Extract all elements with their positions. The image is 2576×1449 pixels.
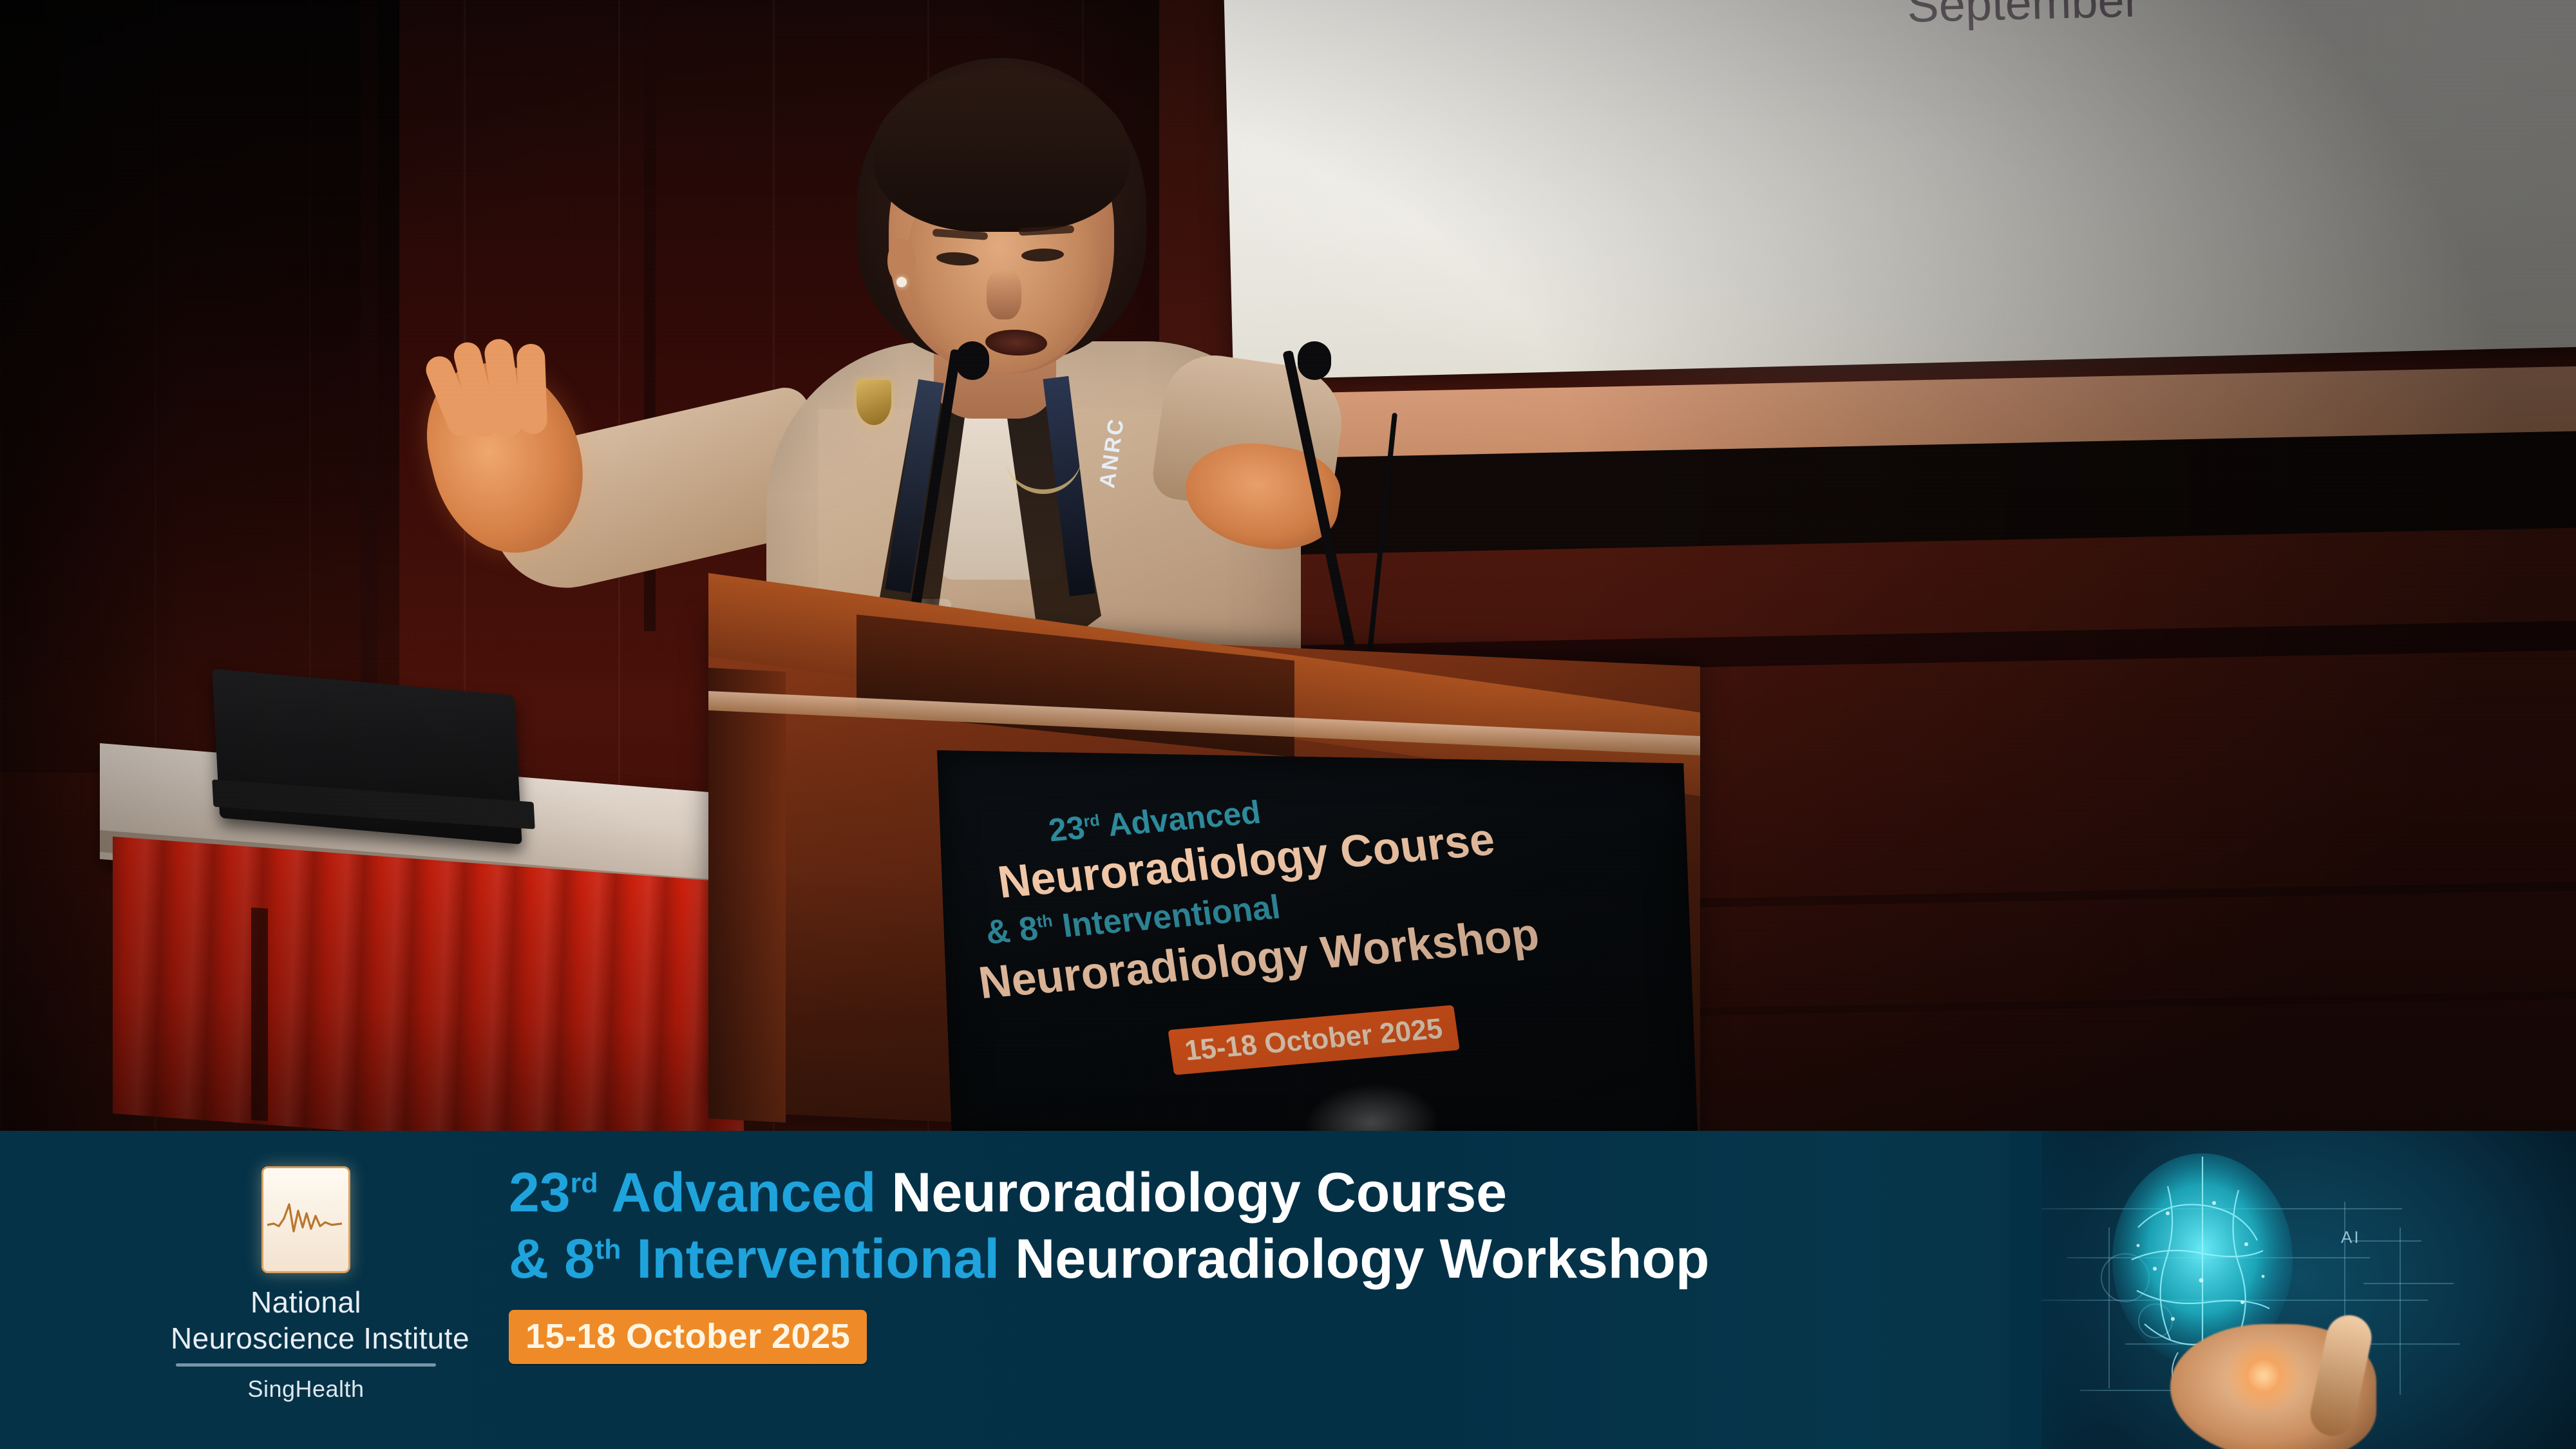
earring	[896, 277, 907, 287]
finger	[516, 343, 548, 434]
red-table-skirt	[113, 837, 744, 1131]
banner-title-line2: & 8th Interventional Neuroradiology Work…	[509, 1229, 1709, 1289]
table-skirt-fold	[251, 907, 268, 1121]
nni-logo: National Neuroscience Institute SingHeal…	[171, 1166, 441, 1403]
lectern-side-panel	[708, 668, 786, 1122]
lectern-sign-content: 23rd Advanced Neuroradiology Course & 8t…	[937, 750, 1698, 1131]
banner-ordinal-23: 23	[509, 1162, 571, 1224]
nose	[987, 269, 1021, 319]
banner-ordinal-suffix-th: th	[595, 1234, 621, 1265]
ai-overlay-label: AI	[2341, 1227, 2361, 1247]
sign-date-badge: 15-18 October 2025	[1168, 1005, 1459, 1075]
eeg-waveform-icon	[261, 1166, 350, 1273]
lapel-brooch	[857, 380, 891, 425]
event-banner: National Neuroscience Institute SingHeal…	[0, 1131, 2576, 1449]
lectern-sign: 23rd Advanced Neuroradiology Course & 8t…	[937, 750, 1698, 1131]
banner-ordinal-suffix-rd: rd	[571, 1168, 598, 1198]
wall-groove	[361, 0, 377, 696]
slide-text-line2: September	[1906, 0, 2141, 33]
nni-name-line1: National	[171, 1285, 441, 1320]
banner-artwork-fade	[2009, 1131, 2112, 1449]
speaker-hair-front	[873, 71, 1130, 232]
banner-date-badge: 15-18 October 2025	[509, 1310, 867, 1364]
glowing-brain-in-hand-icon: AI	[2041, 1131, 2576, 1449]
banner-title-line1: 23rd Advanced Neuroradiology Course	[509, 1163, 1709, 1223]
banner-word-advanced: Advanced	[598, 1162, 892, 1224]
banner-workshop-name: Neuroradiology Workshop	[1015, 1228, 1709, 1290]
banner-title-block: 23rd Advanced Neuroradiology Course & 8t…	[509, 1163, 1709, 1364]
nni-sub-brand: SingHealth	[171, 1376, 441, 1403]
banner-ordinal-8: & 8	[509, 1228, 595, 1290]
sign-brain-icon	[1299, 1078, 1444, 1131]
screenshot-root: Rhoton A. The post September	[0, 0, 2576, 1449]
nni-name-line2: Neuroscience Institute	[171, 1321, 441, 1356]
energy-spark	[2225, 1337, 2302, 1414]
microphone-head-left	[956, 341, 989, 380]
conference-photo: Rhoton A. The post September	[0, 0, 2576, 1131]
banner-word-interventional: Interventional	[621, 1228, 1015, 1290]
microphone-head-right	[1298, 341, 1331, 380]
wall-shadow	[0, 0, 399, 773]
nni-divider	[176, 1363, 436, 1367]
banner-course-name: Neuroradiology Course	[891, 1162, 1507, 1224]
